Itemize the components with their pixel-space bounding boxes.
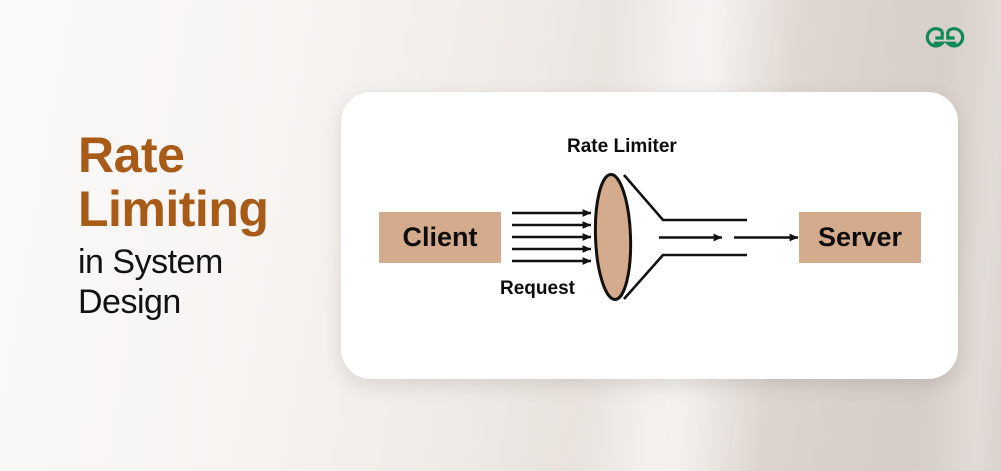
infographic-canvas: Rate Limiting in System Design bbox=[0, 0, 1001, 471]
request-label: Request bbox=[500, 278, 575, 300]
headline-line-3: in System bbox=[78, 242, 348, 282]
client-node: Client bbox=[379, 212, 501, 263]
headline-line-4: Design bbox=[78, 282, 348, 322]
headline-line-1: Rate bbox=[78, 128, 348, 182]
server-node: Server bbox=[799, 212, 921, 263]
geeksforgeeks-logo[interactable] bbox=[916, 19, 974, 55]
headline-line-2: Limiting bbox=[78, 182, 348, 236]
rate-limiter-label: Rate Limiter bbox=[567, 136, 677, 158]
headline-block: Rate Limiting in System Design bbox=[78, 128, 348, 322]
rate-limiter-funnel-ellipse bbox=[593, 174, 632, 300]
request-arrows-group bbox=[512, 213, 591, 261]
